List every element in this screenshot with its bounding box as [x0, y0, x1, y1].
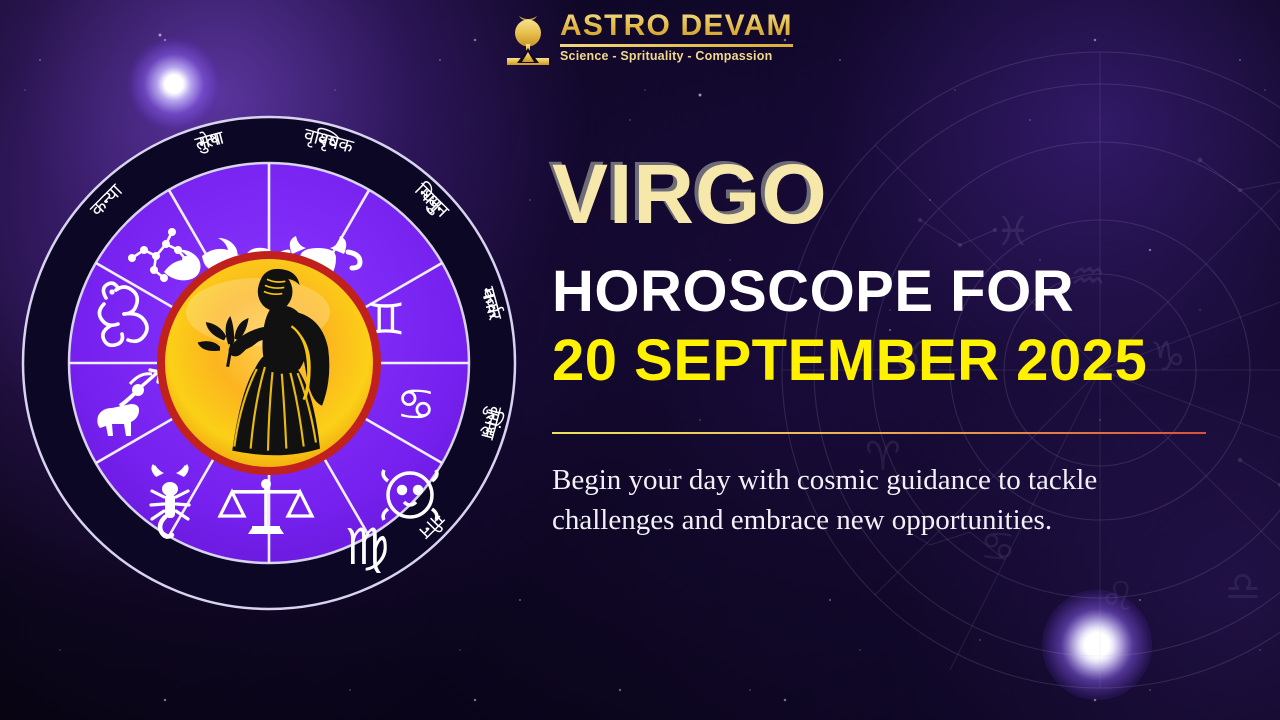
- svg-text:♍: ♍: [345, 518, 390, 576]
- zodiac-wheel: मेष वृष मिथुन कर्क सिंह कन्या तुला वृश्च…: [18, 112, 520, 614]
- horoscope-banner: ♓ ♒ ♑ ♉ ♈ ♋ ♌ ♎: [0, 0, 1280, 720]
- kalash-lamp-icon: [505, 6, 551, 68]
- wheel-icon-crab-icon: ♋: [396, 380, 435, 431]
- copy-column: VIRGO HOROSCOPE FOR 20 SEPTEMBER 2025 Be…: [552, 152, 1252, 540]
- brand-tagline: Science - Sprituality - Compassion: [560, 50, 793, 64]
- wheel-icon-virgo-glyph-icon: ♍: [345, 518, 390, 576]
- page-title: VIRGO: [552, 152, 1252, 236]
- subtitle-beacon-star: [1042, 590, 1152, 700]
- subtitle-text: Begin your day with cosmic guidance to t…: [552, 460, 1212, 540]
- brand-logo: ASTRO DEVAM Science - Sprituality - Comp…: [505, 6, 793, 68]
- brand-name: ASTRO DEVAM: [560, 10, 793, 42]
- svg-text:♋: ♋: [396, 380, 435, 431]
- svg-text:♌: ♌: [1100, 574, 1136, 620]
- divider-rule: [552, 432, 1206, 434]
- brand-rule: [560, 44, 793, 47]
- headline-label: HOROSCOPE FOR: [552, 262, 1252, 323]
- svg-text:♎: ♎: [1225, 564, 1261, 610]
- headline-date: 20 SEPTEMBER 2025: [552, 331, 1252, 392]
